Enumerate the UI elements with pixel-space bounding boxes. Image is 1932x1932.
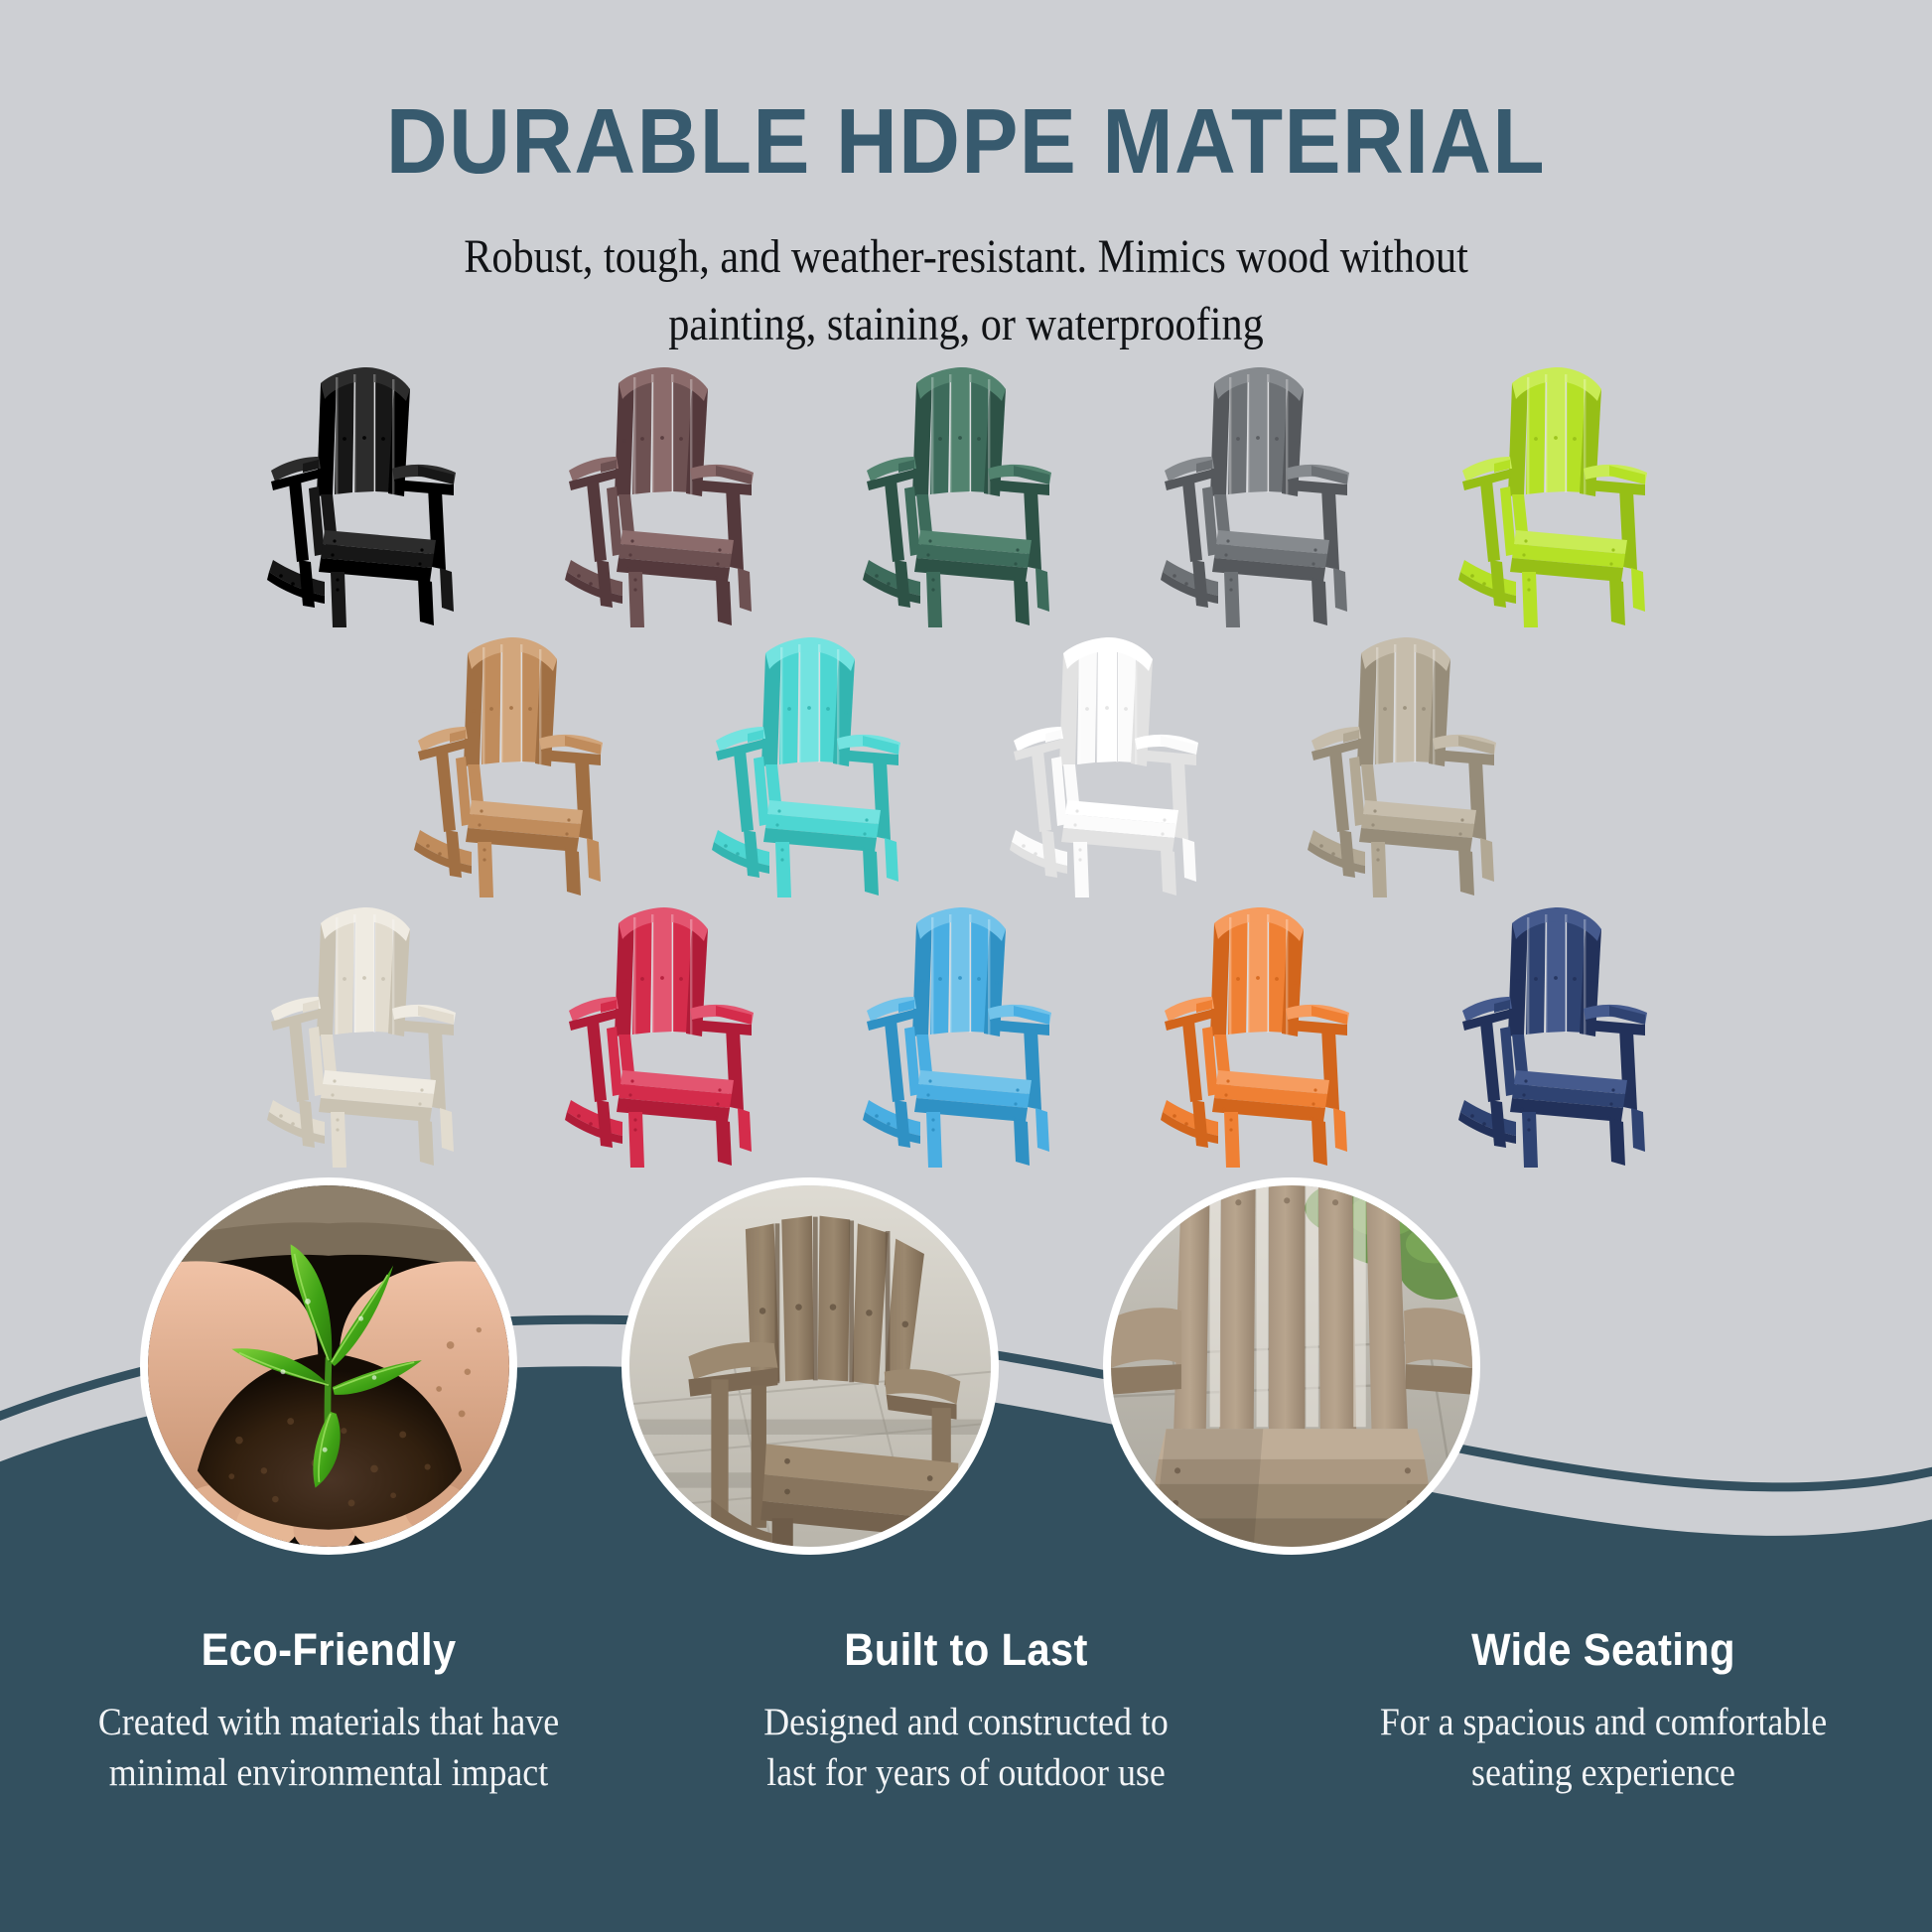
chair-color-grid bbox=[0, 365, 1932, 1175]
chair-svg bbox=[1002, 635, 1228, 901]
chair-svg bbox=[855, 905, 1081, 1172]
hands-seedling-icon bbox=[148, 1185, 509, 1547]
chair-front-stretcher bbox=[1458, 1100, 1516, 1144]
chair-svg bbox=[1450, 905, 1677, 1172]
chair-khaki[interactable] bbox=[1264, 635, 1562, 905]
chair-svg bbox=[1153, 905, 1379, 1172]
feature-title-wide-seating: Wide Seating bbox=[1317, 1625, 1890, 1675]
subtitle-line-1: Robust, tough, and weather-resistant. Mi… bbox=[116, 223, 1816, 291]
subtitle-line-2: painting, staining, or waterproofing bbox=[116, 291, 1816, 358]
feature-desc-line-2: minimal environmental impact bbox=[46, 1747, 612, 1798]
patio-chair-photo-icon bbox=[629, 1185, 991, 1547]
feature-text-wide-seating: Wide Seating For a spacious and comforta… bbox=[1296, 1625, 1911, 1798]
chair-svg bbox=[259, 365, 485, 631]
chair-brown[interactable] bbox=[521, 365, 819, 635]
feature-image-eco-friendly bbox=[140, 1177, 517, 1555]
chair-front-stretcher bbox=[1010, 830, 1067, 874]
feature-desc-built-to-last: Designed and constructed to last for yea… bbox=[683, 1697, 1249, 1799]
feature-text-built-to-last: Built to Last Designed and constructed t… bbox=[658, 1625, 1274, 1798]
feature-desc-wide-seating: For a spacious and comfortable seating e… bbox=[1320, 1697, 1886, 1799]
feature-desc-line-2: seating experience bbox=[1320, 1747, 1886, 1798]
chair-svg bbox=[704, 635, 930, 901]
chair-white[interactable] bbox=[966, 635, 1264, 905]
chair-front-stretcher bbox=[565, 1100, 622, 1144]
chair-navy-blue[interactable] bbox=[1415, 905, 1713, 1175]
chair-svg bbox=[406, 635, 632, 901]
chair-light-blue[interactable] bbox=[819, 905, 1117, 1175]
feature-desc-eco-friendly: Created with materials that have minimal… bbox=[46, 1697, 612, 1799]
chair-red[interactable] bbox=[521, 905, 819, 1175]
chair-front-stretcher bbox=[712, 830, 769, 874]
feature-image-built-to-last bbox=[621, 1177, 999, 1555]
chair-front-stretcher bbox=[267, 560, 325, 604]
feature-desc-line-2: last for years of outdoor use bbox=[683, 1747, 1249, 1798]
chair-orange[interactable] bbox=[1117, 905, 1415, 1175]
chair-front-stretcher bbox=[863, 1100, 920, 1144]
chair-front-stretcher bbox=[863, 560, 920, 604]
chair-gray[interactable] bbox=[1117, 365, 1415, 635]
chair-front-stretcher bbox=[1161, 560, 1218, 604]
page-subtitle: Robust, tough, and weather-resistant. Mi… bbox=[116, 223, 1816, 358]
feature-desc-line-1: For a spacious and comfortable bbox=[1320, 1697, 1886, 1747]
feature-title-eco-friendly: Eco-Friendly bbox=[43, 1625, 616, 1675]
page-title: DURABLE HDPE MATERIAL bbox=[77, 95, 1855, 188]
chair-ivory[interactable] bbox=[223, 905, 521, 1175]
feature-title-built-to-last: Built to Last bbox=[680, 1625, 1253, 1675]
chair-front-stretcher bbox=[1161, 1100, 1218, 1144]
chair-front-stretcher bbox=[565, 560, 622, 604]
chair-svg bbox=[855, 365, 1081, 631]
feature-desc-line-1: Designed and constructed to bbox=[683, 1697, 1249, 1747]
chair-row-2 bbox=[0, 635, 1932, 905]
chair-dark-green[interactable] bbox=[819, 365, 1117, 635]
chair-svg bbox=[557, 905, 783, 1172]
chair-front-stretcher bbox=[1458, 560, 1516, 604]
chair-svg bbox=[1153, 365, 1379, 631]
feature-image-wide-seating bbox=[1103, 1177, 1480, 1555]
chair-svg bbox=[1450, 365, 1677, 631]
chair-svg bbox=[557, 365, 783, 631]
feature-text-eco-friendly: Eco-Friendly Created with materials that… bbox=[21, 1625, 636, 1798]
chair-front-stretcher bbox=[1308, 830, 1365, 874]
chair-lime-green[interactable] bbox=[1415, 365, 1713, 635]
wide-seat-closeup-icon bbox=[1111, 1185, 1472, 1547]
chair-front-stretcher bbox=[267, 1100, 325, 1144]
chair-front-stretcher bbox=[414, 830, 472, 874]
chair-teak[interactable] bbox=[370, 635, 668, 905]
chair-black[interactable] bbox=[223, 365, 521, 635]
feature-desc-line-1: Created with materials that have bbox=[46, 1697, 612, 1747]
chair-row-3 bbox=[0, 905, 1932, 1175]
chair-turquoise[interactable] bbox=[668, 635, 966, 905]
chair-svg bbox=[1300, 635, 1526, 901]
chair-row-1 bbox=[0, 365, 1932, 635]
header: DURABLE HDPE MATERIAL Robust, tough, and… bbox=[0, 0, 1932, 358]
chair-svg bbox=[259, 905, 485, 1172]
